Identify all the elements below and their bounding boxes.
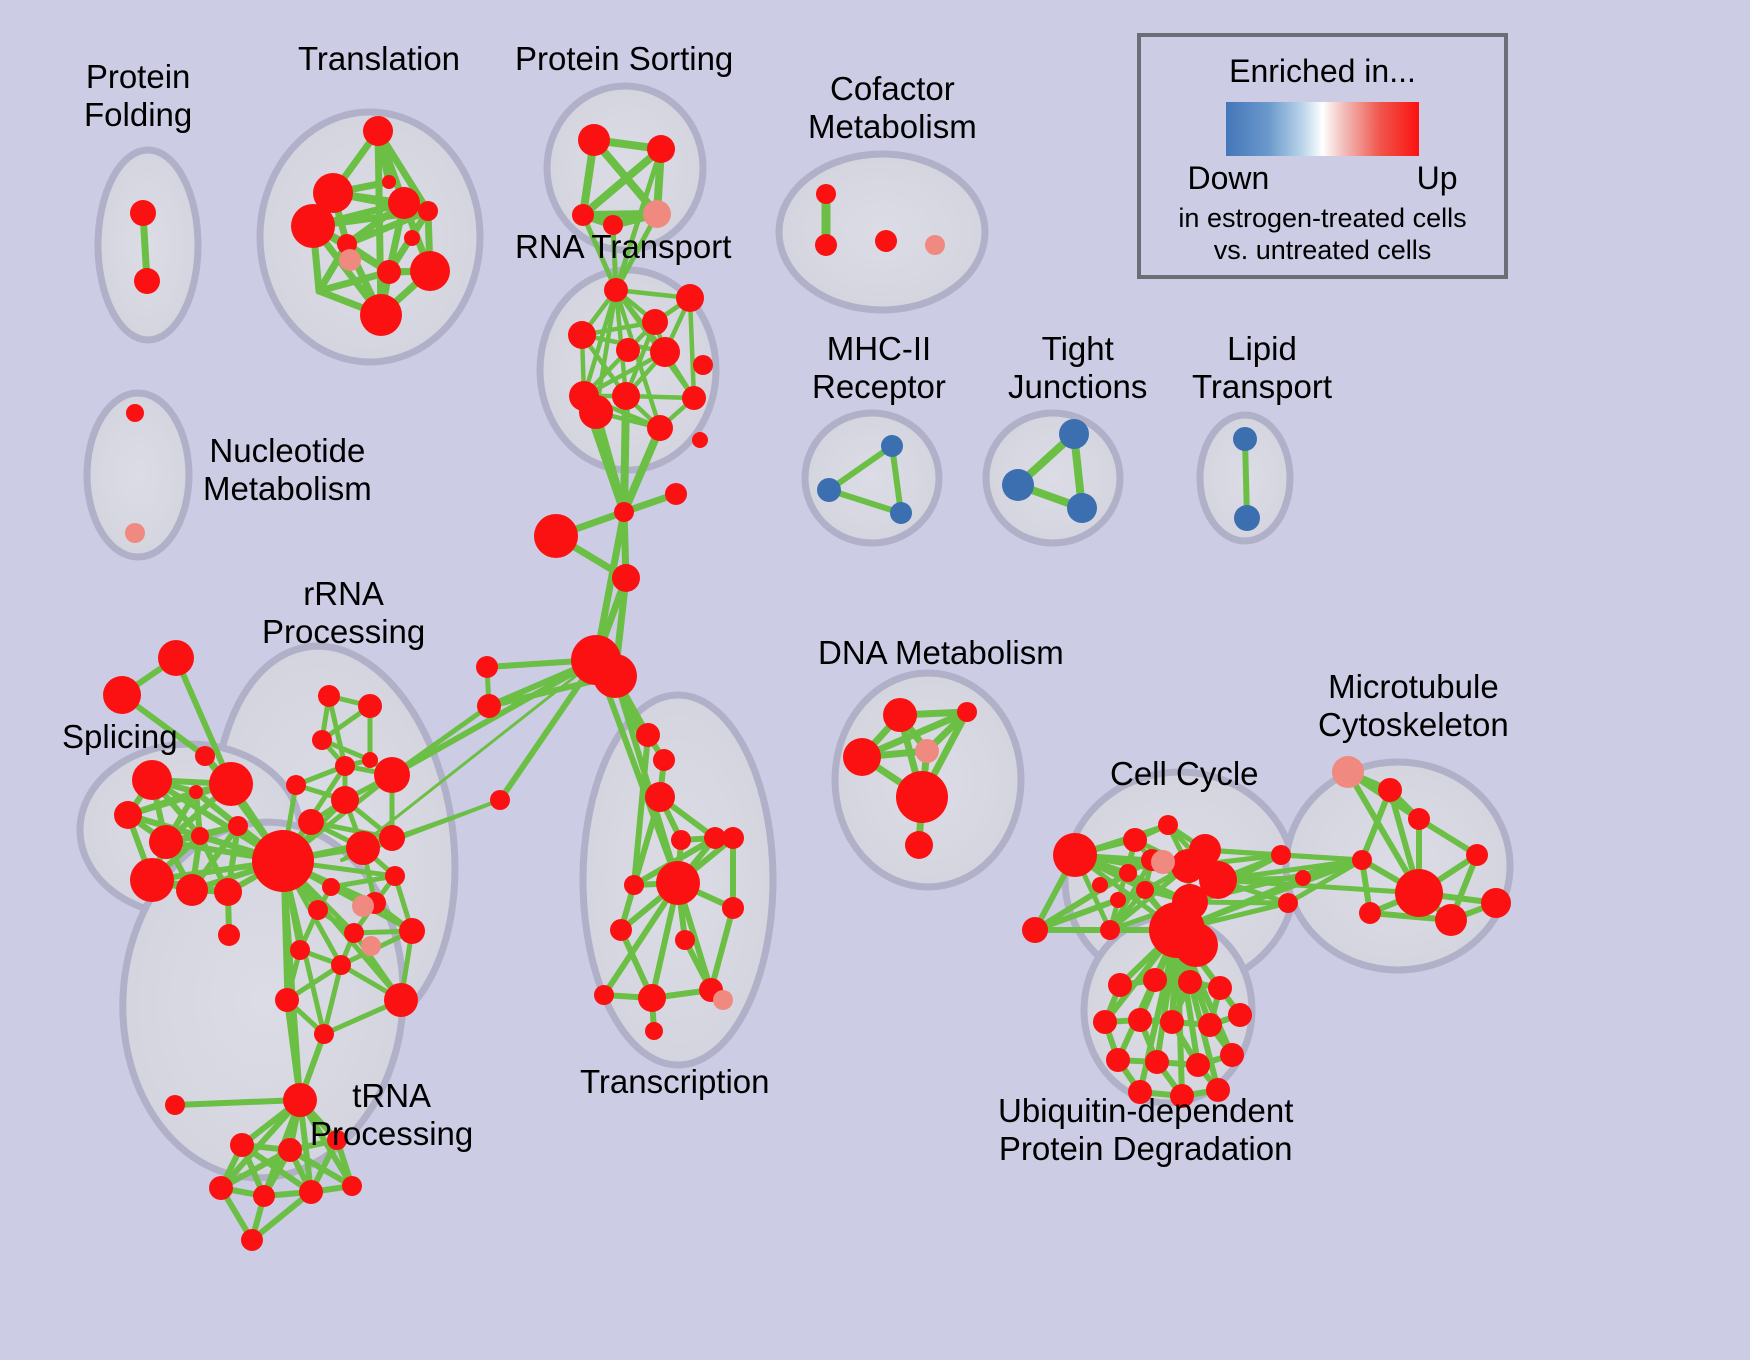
cluster-label-protein-folding: Protein Folding — [84, 58, 192, 133]
cluster-label-transcription: Transcription — [580, 1063, 770, 1101]
cluster-label-lipid-transport: Lipid Transport — [1192, 330, 1332, 405]
legend-subtitle-line1: in estrogen-treated cells — [1178, 203, 1466, 235]
cluster-label-nucleotide-metabolism: Nucleotide Metabolism — [203, 432, 372, 507]
cluster-label-mhc-ii-receptor: MHC-II Receptor — [812, 330, 946, 405]
legend-endpoint-labels: Down Up — [1188, 160, 1458, 197]
cluster-label-trna-processing: tRNA Processing — [310, 1077, 473, 1152]
legend-subtitle-line2: vs. untreated cells — [1214, 235, 1432, 267]
legend-title: Enriched in... — [1229, 53, 1416, 90]
cluster-label-cofactor-metabolism: Cofactor Metabolism — [808, 70, 977, 145]
legend-box: Enriched in... Down Up in estrogen-treat… — [1137, 33, 1508, 279]
cluster-label-cell-cycle: Cell Cycle — [1110, 755, 1259, 793]
cluster-label-tight-junctions: Tight Junctions — [1008, 330, 1147, 405]
cluster-label-translation: Translation — [298, 40, 460, 78]
legend-low-label: Down — [1188, 160, 1270, 197]
cluster-label-protein-sorting: Protein Sorting — [515, 40, 733, 78]
enrichment-map-figure: Protein Folding Translation Protein Sort… — [0, 0, 1750, 1360]
cluster-label-splicing: Splicing — [62, 718, 178, 756]
cluster-label-ubiquitin-protein-degradation: Ubiquitin-dependent Protein Degradation — [998, 1092, 1293, 1167]
cluster-label-rna-transport: RNA Transport — [515, 228, 731, 266]
legend-high-label: Up — [1417, 160, 1458, 197]
cluster-label-microtubule-cytoskeleton: Microtubule Cytoskeleton — [1318, 668, 1509, 743]
cluster-ellipse-mhc-ii-receptor — [805, 413, 939, 543]
cluster-label-dna-metabolism: DNA Metabolism — [818, 634, 1064, 672]
cluster-label-rrna-processing: rRNA Processing — [262, 575, 425, 650]
legend-color-gradient-bar — [1226, 102, 1419, 156]
